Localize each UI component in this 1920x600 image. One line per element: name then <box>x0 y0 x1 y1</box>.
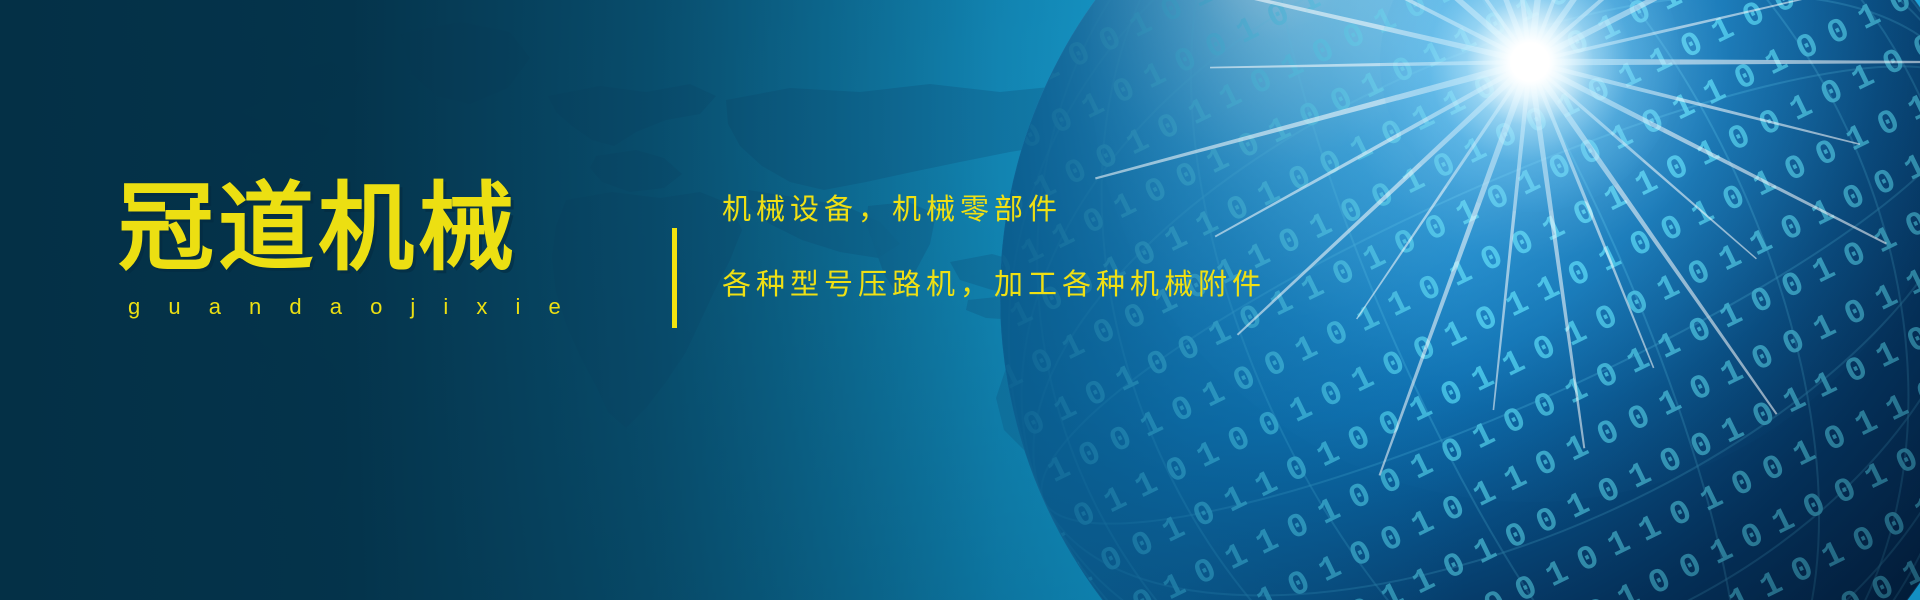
hero-banner: 10010110100101001011010010100101101001 0… <box>0 0 1920 600</box>
company-logo[interactable]: 冠道机械 g u a n d a o j i x i e <box>118 178 538 320</box>
tagline-primary: 机械设备，机械零部件 <box>722 196 1266 225</box>
vertical-divider <box>672 228 677 328</box>
banner-content: 冠道机械 g u a n d a o j i x i e 机械设备，机械零部件 … <box>0 0 1920 600</box>
company-name-cn: 冠道机械 <box>118 178 538 280</box>
tagline-group: 机械设备，机械零部件 各种型号压路机，加工各种机械附件 <box>722 196 1266 300</box>
company-name-pinyin: g u a n d a o j i x i e <box>118 294 538 320</box>
tagline-secondary: 各种型号压路机，加工各种机械附件 <box>722 271 1266 300</box>
